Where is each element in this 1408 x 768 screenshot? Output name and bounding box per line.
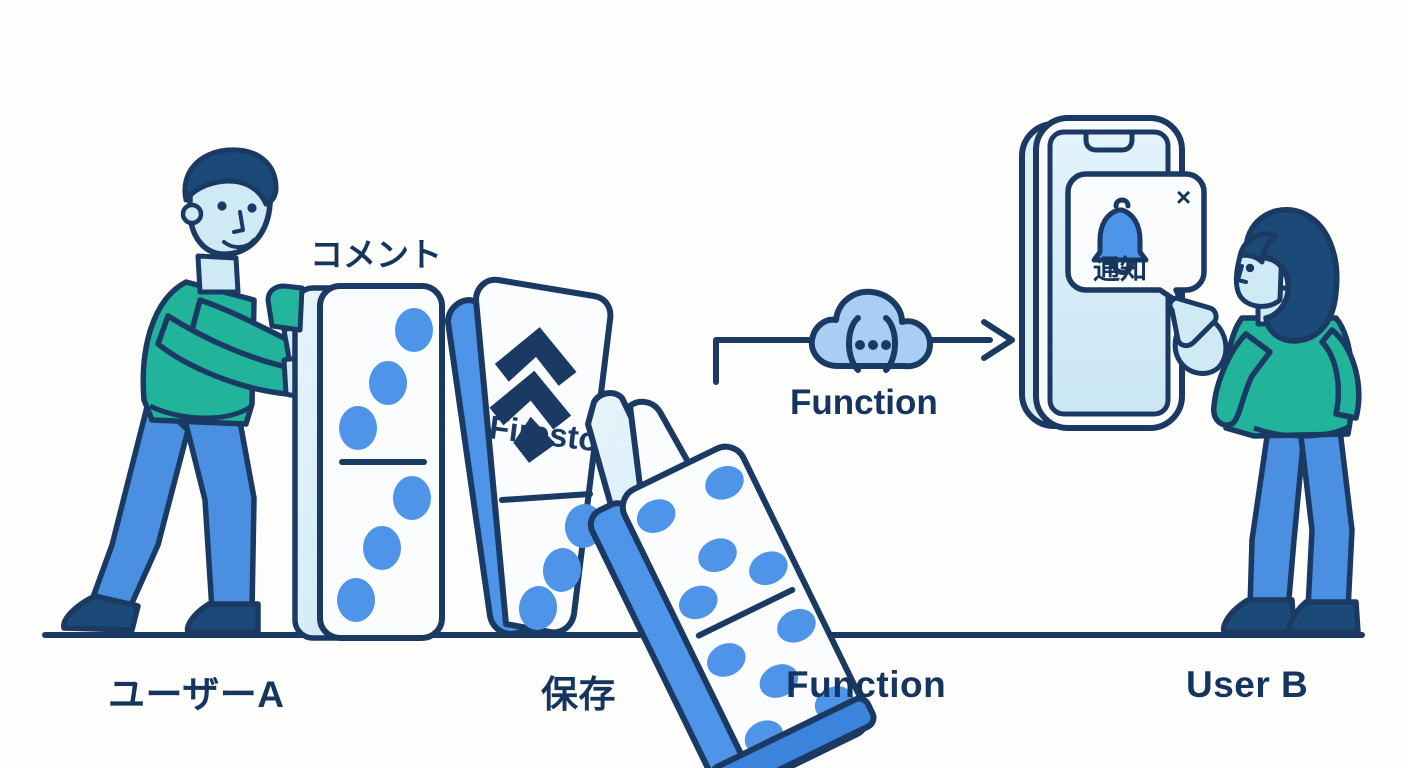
person-b-front-leg: [1300, 428, 1352, 610]
cloud-dot: [855, 340, 865, 350]
axis-label-save: 保存: [541, 664, 616, 718]
notification-label: 通知: [1093, 248, 1147, 287]
cloud-dot: [881, 340, 891, 350]
person-user-a: [64, 150, 314, 632]
person-a-neck: [198, 256, 238, 292]
person-a-back-leg: [92, 395, 188, 612]
illustration-canvas: Firestore: [0, 0, 1408, 768]
person-a-back-shoe: [64, 596, 138, 630]
notification-close-icon[interactable]: ×: [1176, 184, 1191, 210]
domino-pip: [339, 406, 377, 450]
person-a-ear: [183, 205, 201, 223]
domino-one: [320, 286, 442, 638]
cloud-shape: [812, 292, 930, 366]
domino-pip: [363, 526, 401, 570]
person-a-eye-left: [217, 201, 226, 210]
domino-pip: [395, 308, 433, 352]
person-b-eye: [1246, 264, 1254, 272]
domino-flow-illustration: Firestore: [0, 0, 1408, 768]
person-a-front-leg: [180, 400, 254, 612]
domino-teal-shard: [268, 286, 302, 330]
person-a-eye-right: [247, 203, 256, 212]
comment-label: コメント: [310, 228, 442, 276]
domino-pip: [337, 578, 375, 622]
domino-pip: [369, 361, 407, 405]
person-a-front-shoe: [188, 604, 258, 632]
person-b-back-shoe: [1224, 600, 1294, 632]
person-b-back-leg: [1250, 430, 1304, 610]
axis-label-function: Function: [786, 664, 946, 706]
function-flow-label: Function: [790, 383, 938, 423]
domino-pip: [393, 476, 431, 520]
cloud-dot: [868, 340, 878, 350]
cloud-function-icon: [812, 292, 930, 370]
axis-label-user-b: User B: [1186, 664, 1308, 706]
axis-label-user-a: ユーザーA: [108, 664, 284, 718]
person-b-front-shoe: [1290, 602, 1358, 632]
